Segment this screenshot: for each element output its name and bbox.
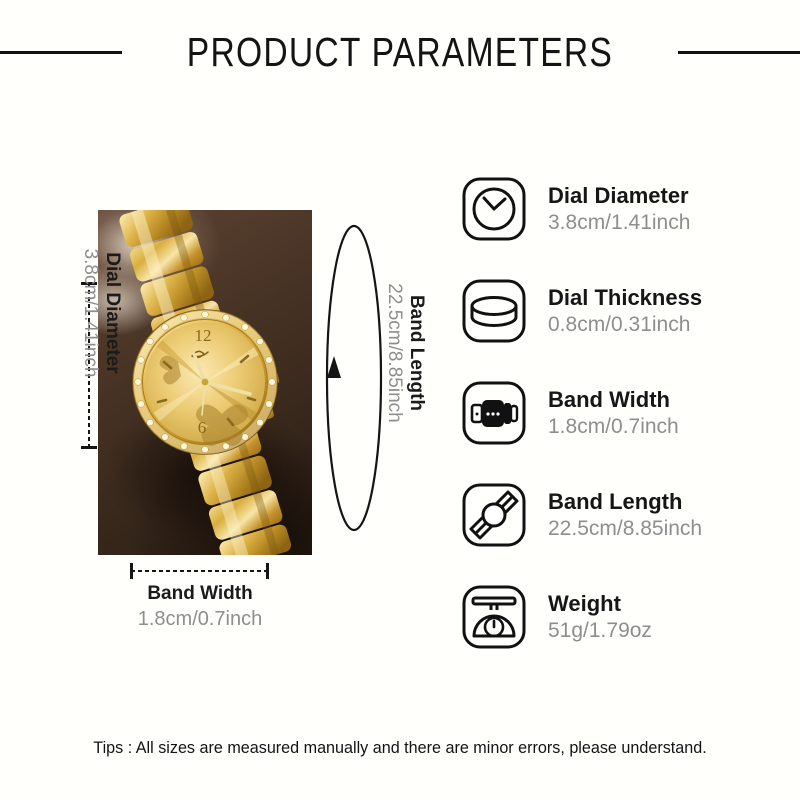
title-rule-right — [678, 51, 800, 54]
title-rule-left — [0, 51, 122, 54]
watch-clasp-icon — [458, 377, 530, 449]
kitchen-scale-icon — [458, 581, 530, 653]
spec-text-weight: Weight 51g/1.79oz — [548, 590, 652, 645]
spec-value-weight: 51g/1.79oz — [548, 617, 652, 644]
spec-row-weight: Weight 51g/1.79oz — [458, 578, 778, 656]
spec-value-dial-thickness: 0.8cm/0.31inch — [548, 311, 702, 338]
watch-top-view-icon — [458, 479, 530, 551]
spec-text-band-width: Band Width 1.8cm/0.7inch — [548, 386, 679, 441]
disc-thickness-icon — [458, 275, 530, 347]
spec-row-dial-thickness: Dial Thickness 0.8cm/0.31inch — [458, 272, 778, 350]
dial-diameter-dimension-line — [88, 283, 90, 447]
band-width-annotation: Band Width 1.8cm/0.7inch — [75, 582, 325, 632]
spec-text-dial-thickness: Dial Thickness 0.8cm/0.31inch — [548, 284, 702, 339]
dial-numeral-12: 12 — [195, 326, 212, 345]
band-width-annotation-value: 1.8cm/0.7inch — [75, 606, 325, 632]
watch-hands-pivot — [202, 379, 209, 386]
product-photo: 12 6 — [98, 210, 312, 555]
page-header: PRODUCT PARAMETERS — [0, 26, 800, 78]
spec-list: Dial Diameter 3.8cm/1.41inch Dial Thickn… — [458, 170, 778, 656]
dial-diameter-cap-top — [81, 282, 97, 285]
band-length-annotation-label: Band Length — [405, 295, 427, 411]
watch-dial-clock-icon — [458, 173, 530, 245]
dial-diameter-cap-bottom — [81, 446, 97, 449]
dial-numeral-6: 6 — [198, 418, 207, 437]
spec-text-band-length: Band Length 22.5cm/8.85inch — [548, 488, 702, 543]
band-width-cap-right — [266, 563, 269, 579]
band-width-dimension-line — [131, 570, 267, 572]
band-length-loop-graphic — [318, 218, 390, 538]
band-width-cap-left — [130, 563, 133, 579]
spec-label-band-length: Band Length — [548, 488, 702, 516]
spec-label-dial-thickness: Dial Thickness — [548, 284, 702, 312]
spec-row-dial-diameter: Dial Diameter 3.8cm/1.41inch — [458, 170, 778, 248]
page-title: PRODUCT PARAMETERS — [187, 29, 613, 76]
band-length-loop — [318, 218, 390, 538]
spec-text-dial-diameter: Dial Diameter 3.8cm/1.41inch — [548, 182, 690, 237]
spec-label-dial-diameter: Dial Diameter — [548, 182, 690, 210]
spec-row-band-width: Band Width 1.8cm/0.7inch — [458, 374, 778, 452]
watch-illustration: 12 6 — [98, 210, 312, 555]
spec-value-band-length: 22.5cm/8.85inch — [548, 515, 702, 542]
spec-row-band-length: Band Length 22.5cm/8.85inch — [458, 476, 778, 554]
spec-label-weight: Weight — [548, 590, 652, 618]
spec-value-band-width: 1.8cm/0.7inch — [548, 413, 679, 440]
band-length-arrowhead — [327, 356, 341, 378]
spec-value-dial-diameter: 3.8cm/1.41inch — [548, 209, 690, 236]
spec-label-band-width: Band Width — [548, 386, 679, 414]
footer-tips: Tips : All sizes are measured manually a… — [20, 738, 780, 758]
band-width-annotation-label: Band Width — [75, 582, 325, 606]
